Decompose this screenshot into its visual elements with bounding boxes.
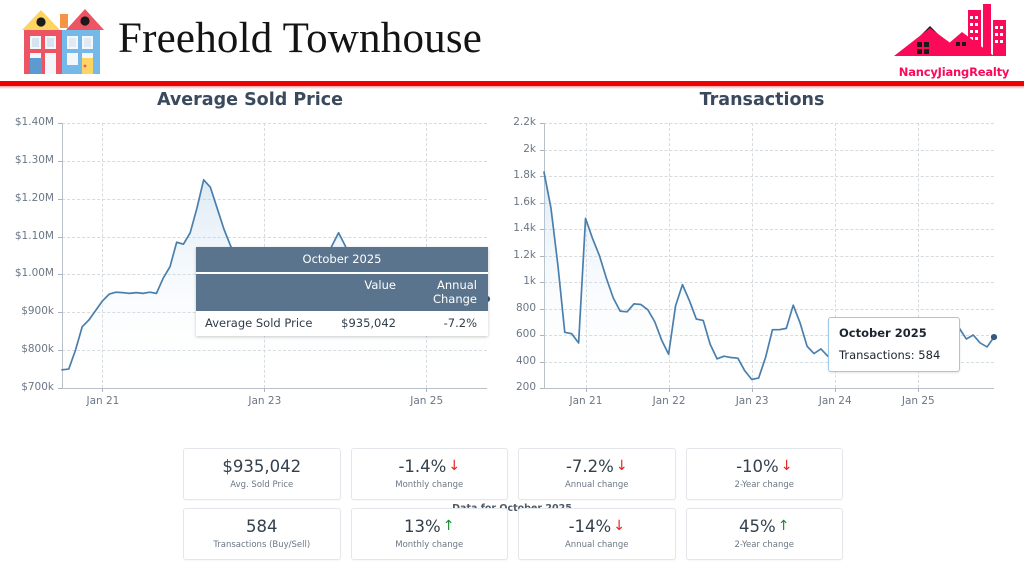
tooltip-transactions-value: Transactions: 584 <box>839 348 949 362</box>
tooltip-col-blank <box>196 278 318 306</box>
y-axis-tick-label: 1k <box>500 275 536 287</box>
stat-card-value: $935,042 <box>222 458 301 475</box>
stat-card[interactable]: $935,042 Avg. Sold Price <box>183 448 341 500</box>
gridline-h <box>62 123 487 124</box>
gridline-h <box>62 237 487 238</box>
y-axis-tick-label: $1.20M <box>0 192 54 204</box>
gridline-v <box>669 123 670 388</box>
tooltip-row: Average Sold Price $935,042 -7.2% <box>196 311 488 336</box>
stat-card[interactable]: -7.2%↓ Annual change <box>518 448 676 500</box>
y-axis-tick-label: 200 <box>500 381 536 393</box>
gridline-h <box>62 161 487 162</box>
stat-card-value: 584 <box>246 518 278 535</box>
x-axis <box>62 388 487 389</box>
chart-title-transactions: Transactions <box>500 90 1024 110</box>
stat-cards: $935,042 Avg. Sold Price -1.4%↓ Monthly … <box>183 448 843 568</box>
stat-card-label: Monthly change <box>395 480 463 490</box>
stat-card-value: -14%↓ <box>569 518 625 535</box>
gridline-v <box>102 123 103 388</box>
gridline-h <box>544 256 994 257</box>
stat-card-value: 13%↑ <box>404 518 454 535</box>
stat-card[interactable]: 13%↑ Monthly change <box>351 508 509 560</box>
x-axis-tick-label: Jan 25 <box>410 395 443 407</box>
stat-card-label: Annual change <box>565 480 629 490</box>
gridline-h <box>544 203 994 204</box>
x-axis-tick-label: Jan 23 <box>736 395 769 407</box>
charts-area: Average Sold Price $700k$800k$900k$1.00M… <box>0 90 1024 430</box>
arrow-up-icon: ↑ <box>443 519 455 533</box>
x-axis <box>544 388 994 389</box>
y-axis-tick-label: $900k <box>0 305 54 317</box>
stat-card-label: 2-Year change <box>735 480 794 490</box>
stat-card-value: -1.4%↓ <box>398 458 460 475</box>
stat-card[interactable]: 584 Transactions (Buy/Sell) <box>183 508 341 560</box>
x-axis-tick-label: Jan 21 <box>570 395 603 407</box>
y-axis-tick-label: $1.30M <box>0 154 54 166</box>
y-axis-tick-label: 2.2k <box>500 116 536 128</box>
y-axis-tick-label: 1.2k <box>500 249 536 261</box>
tooltip-transactions-period: October 2025 <box>839 326 949 340</box>
x-axis-tick-label: Jan 25 <box>902 395 935 407</box>
gridline-h <box>544 176 994 177</box>
y-axis-tick-label: $700k <box>0 381 54 393</box>
gridline-h <box>544 150 994 151</box>
tooltip-column-headers: Value Annual Change <box>196 272 488 311</box>
x-axis-tick-label: Jan 22 <box>653 395 686 407</box>
stat-card-label: Monthly change <box>395 540 463 550</box>
stat-card-label: Annual change <box>565 540 629 550</box>
tooltip-col-annual-change: Annual Change <box>406 278 488 306</box>
page-title: Freehold Townhouse <box>118 14 482 63</box>
dashboard-page: Freehold Townhouse <box>0 0 1024 576</box>
stat-card-value: -7.2%↓ <box>566 458 628 475</box>
y-axis <box>62 123 63 388</box>
stat-card-label: Avg. Sold Price <box>230 480 293 490</box>
gridline-h <box>544 282 994 283</box>
header-divider <box>0 81 1024 86</box>
y-axis-tick-label: $1.10M <box>0 230 54 242</box>
stat-card[interactable]: 45%↑ 2-Year change <box>686 508 844 560</box>
arrow-down-icon: ↓ <box>613 519 625 533</box>
y-axis-tick-label: 1.6k <box>500 196 536 208</box>
stat-card[interactable]: -14%↓ Annual change <box>518 508 676 560</box>
arrow-down-icon: ↓ <box>781 459 793 473</box>
gridline-v <box>752 123 753 388</box>
tooltip-col-value: Value <box>318 278 406 306</box>
gridline-h <box>62 199 487 200</box>
y-axis-tick-label: 1.4k <box>500 222 536 234</box>
stat-card-label: 2-Year change <box>735 540 794 550</box>
tooltip-average-sold-price: October 2025 Value Annual Change Average… <box>196 247 488 336</box>
chart-title-price: Average Sold Price <box>0 90 500 110</box>
stat-card-row-transactions: 584 Transactions (Buy/Sell) 13%↑ Monthly… <box>183 508 843 560</box>
x-axis-tick-label: Jan 21 <box>86 395 119 407</box>
tooltip-period: October 2025 <box>196 247 488 272</box>
y-axis-tick-label: $1.00M <box>0 267 54 279</box>
stat-card[interactable]: -1.4%↓ Monthly change <box>351 448 509 500</box>
y-axis-tick-label: 400 <box>500 355 536 367</box>
arrow-up-icon: ↑ <box>778 519 790 533</box>
brand-name: NancyJiangRealty <box>894 65 1014 79</box>
gridline-h <box>62 350 487 351</box>
gridline-h <box>544 229 994 230</box>
page-header: Freehold Townhouse <box>0 0 1024 80</box>
tooltip-row-label: Average Sold Price <box>196 316 318 330</box>
stat-card-value: 45%↑ <box>739 518 789 535</box>
y-axis-tick-label: 800 <box>500 302 536 314</box>
gridline-v <box>586 123 587 388</box>
stat-card-value: -10%↓ <box>736 458 792 475</box>
gridline-h <box>544 309 994 310</box>
tooltip-row-change: -7.2% <box>406 316 488 330</box>
stat-card-label: Transactions (Buy/Sell) <box>213 540 310 550</box>
x-axis-tick-label: Jan 23 <box>248 395 281 407</box>
gridline-h <box>544 123 994 124</box>
stat-card-row-price: $935,042 Avg. Sold Price -1.4%↓ Monthly … <box>183 448 843 500</box>
townhouses-icon <box>14 6 112 78</box>
house-skyline-icon: NancyJiangRealty <box>894 4 1014 80</box>
y-axis-tick-label: 2k <box>500 143 536 155</box>
arrow-down-icon: ↓ <box>448 459 460 473</box>
y-axis <box>544 123 545 388</box>
y-axis-tick-label: 1.8k <box>500 169 536 181</box>
y-axis-tick-label: $800k <box>0 343 54 355</box>
stat-card[interactable]: -10%↓ 2-Year change <box>686 448 844 500</box>
tooltip-row-value: $935,042 <box>318 316 406 330</box>
y-axis-tick-label: $1.40M <box>0 116 54 128</box>
x-axis-tick-label: Jan 24 <box>819 395 852 407</box>
y-axis-tick-label: 600 <box>500 328 536 340</box>
tooltip-transactions: October 2025 Transactions: 584 <box>828 317 960 372</box>
arrow-down-icon: ↓ <box>616 459 628 473</box>
